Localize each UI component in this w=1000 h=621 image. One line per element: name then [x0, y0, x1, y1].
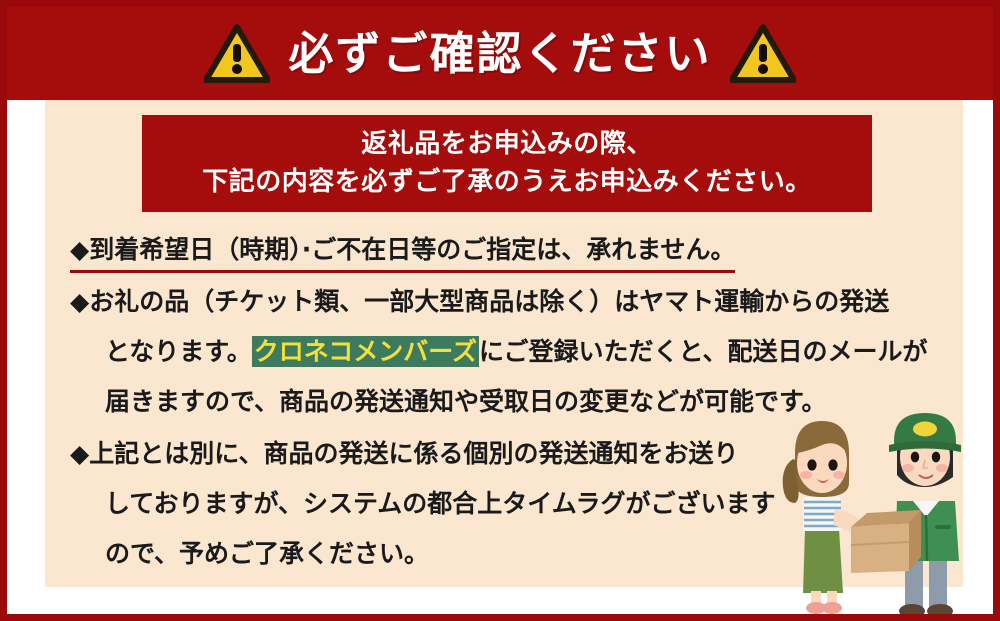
notice-page: 必ずご確認ください 返礼品をお申込みの際、 下記の内容を必ずご了承のうえお申込み…: [0, 0, 1000, 621]
page-header: 必ずご確認ください: [7, 7, 993, 100]
notice-line-text: ので、予めご了承ください。: [105, 539, 429, 568]
notice-line: となります。クロネコメンバーズにご登録いただくと、配送日のメールが: [70, 327, 930, 377]
notice-line: ◆到着希望日（時期）·ご不在日等のご指定は、承れません。: [70, 225, 930, 275]
cardboard-box-icon: [851, 510, 921, 573]
delivery-illustration-svg: [779, 405, 979, 621]
banner-line-2: 下記の内容を必ずご了承のうえお申込みください。: [202, 165, 812, 200]
delivery-handoff-illustration: [779, 405, 979, 621]
warning-triangle-icon: [204, 24, 270, 84]
notice-line-text-pre: となります。: [105, 337, 252, 366]
notice-item: ◆到着希望日（時期）·ご不在日等のご指定は、承れません。: [70, 225, 930, 275]
cap-logo-icon: [913, 422, 937, 437]
bullet-diamond-icon: ◆: [70, 439, 89, 468]
eye-left: [911, 452, 919, 463]
notice-line-text: お礼の品（チケット類、一部大型商品は除く）はヤマト運輸からの発送: [89, 287, 889, 316]
bullet-diamond-icon: ◆: [70, 287, 89, 316]
eye-right: [828, 459, 837, 470]
notice-line-text: 上記とは別に、商品の発送に係る個別の発送通知をお送り: [89, 439, 738, 468]
notice-line-text: 到着希望日（時期）·ご不在日等のご指定は、承れません。: [89, 235, 735, 264]
eye-right: [932, 452, 940, 463]
notice-line-text: 届きますので、商品の発送通知や受取日の変更などが可能です。: [105, 387, 827, 416]
page-title: 必ずご確認ください: [288, 31, 711, 76]
notice-banner: 返礼品をお申込みの際、 下記の内容を必ずご了承のうえお申込みください。: [142, 115, 872, 212]
notice-line-text-post: にご登録いただくと、配送日のメールが: [479, 337, 928, 366]
kuroneko-members-highlight[interactable]: クロネコメンバーズ: [252, 336, 479, 367]
notice-line: ◆お礼の品（チケット類、一部大型商品は除く）はヤマト運輸からの発送: [70, 277, 930, 327]
bullet-diamond-icon: ◆: [70, 235, 89, 264]
eye-left: [807, 459, 816, 470]
warning-triangle-icon: [730, 24, 796, 84]
banner-line-1: 返礼品をお申込みの際、: [361, 127, 653, 162]
notice-line-text: しておりますが、システムの都合上タイムラグがございます: [105, 489, 776, 518]
notice-line-underlined: ◆到着希望日（時期）·ご不在日等のご指定は、承れません。: [70, 231, 735, 273]
